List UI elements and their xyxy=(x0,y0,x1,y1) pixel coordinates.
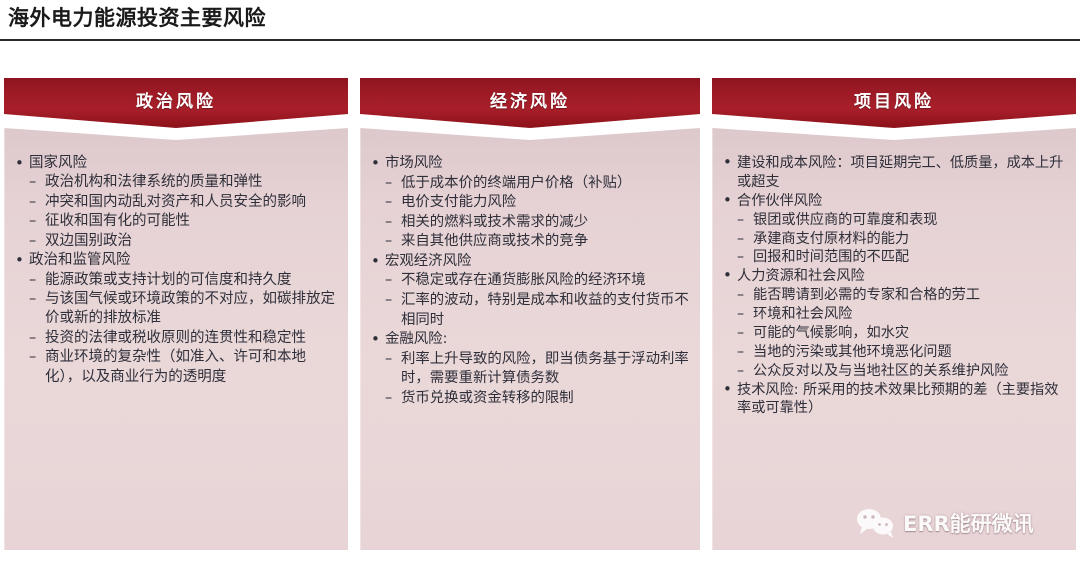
risk-list: 建设和成本风险：项目延期完工、低质量，成本上升或超支 合作伙伴风险 银团或供应商… xyxy=(720,154,1066,418)
risk-group: 人力资源和社会风险 能否聘请到必需的专家和合格的劳工 环境和社会风险 可能的气候… xyxy=(720,267,1066,380)
risk-list: 市场风险 低于成本价的终端用户价格（补贴） 电价支付能力风险 相关的燃料或技术需… xyxy=(368,154,690,409)
risk-group: 建设和成本风险：项目延期完工、低质量，成本上升或超支 xyxy=(720,154,1066,192)
risk-sub-item: 冲突和国内动乱对资产和人员安全的影响 xyxy=(29,193,338,212)
risk-group-label: 宏观经济风险 xyxy=(385,252,690,272)
risk-sub-item: 投资的法律或税收原则的连贯性和稳定性 xyxy=(29,329,338,348)
risk-sub-item: 双边国别政治 xyxy=(29,232,338,251)
risk-sub-item: 回报和时间范围的不匹配 xyxy=(737,248,1066,267)
page-title: 海外电力能源投资主要风险 xyxy=(8,6,266,31)
risk-sub-item: 利率上升导致的风险，即当债务基于浮动利率时，需要重新计算债务数 xyxy=(385,350,690,389)
risk-column-economic: 经济风险 市场风险 低于成本价的终端用户价格（补贴） 电价支付能力风险 相关的燃… xyxy=(360,78,700,558)
risk-sub-list: 低于成本价的终端用户价格（补贴） 电价支付能力风险 相关的燃料或技术需求的减少 … xyxy=(385,174,690,252)
risk-sub-item: 相关的燃料或技术需求的减少 xyxy=(385,213,690,233)
risk-sub-item: 环境和社会风险 xyxy=(737,305,1066,324)
risk-group-label: 合作伙伴风险 xyxy=(737,192,1066,211)
risk-sub-item: 电价支付能力风险 xyxy=(385,193,690,213)
risk-group: 金融风险: 利率上升导致的风险，即当债务基于浮动利率时，需要重新计算债务数 货币… xyxy=(368,330,690,408)
risk-sub-item: 货币兑换或资金转移的限制 xyxy=(385,389,690,409)
risk-sub-list: 银团或供应商的可靠度和表现 承建商支付原材料的能力 回报和时间范围的不匹配 xyxy=(737,211,1066,268)
risk-sub-item: 不稳定或存在通货膨胀风险的经济环境 xyxy=(385,271,690,291)
risk-group: 政治和监管风险 能源政策或支持计划的可信度和持久度 与该国气候或环境政策的不对应… xyxy=(12,251,338,387)
risk-group: 宏观经济风险 不稳定或存在通货膨胀风险的经济环境 汇率的波动，特别是成本和收益的… xyxy=(368,252,690,330)
risk-group: 技术风险: 所采用的技术效果比预期的差（主要指效率或可靠性） xyxy=(720,381,1066,419)
risk-group: 市场风险 低于成本价的终端用户价格（补贴） 电价支付能力风险 相关的燃料或技术需… xyxy=(368,154,690,252)
risk-column-political: 政治风险 国家风险 政治机构和法律系统的质量和弹性 冲突和国内动乱对资产和人员安… xyxy=(4,78,348,558)
risk-sub-item: 征收和国有化的可能性 xyxy=(29,212,338,231)
risk-sub-item: 政治机构和法律系统的质量和弹性 xyxy=(29,173,338,192)
column-header-label: 政治风险 xyxy=(136,87,216,112)
risk-sub-item: 与该国气候或环境政策的不对应，如碳排放定价或新的排放标准 xyxy=(29,290,338,329)
risk-sub-item: 能否聘请到必需的专家和合格的劳工 xyxy=(737,286,1066,305)
risk-column-project: 项目风险 建设和成本风险：项目延期完工、低质量，成本上升或超支 合作伙伴风险 银… xyxy=(712,78,1076,558)
column-header-label: 项目风险 xyxy=(854,87,934,112)
risk-group: 国家风险 政治机构和法律系统的质量和弹性 冲突和国内动乱对资产和人员安全的影响 … xyxy=(12,154,338,251)
risk-sub-list: 利率上升导致的风险，即当债务基于浮动利率时，需要重新计算债务数 货币兑换或资金转… xyxy=(385,350,690,409)
risk-sub-list: 能源政策或支持计划的可信度和持久度 与该国气候或环境政策的不对应，如碳排放定价或… xyxy=(29,271,338,388)
risk-sub-list: 政治机构和法律系统的质量和弹性 冲突和国内动乱对资产和人员安全的影响 征收和国有… xyxy=(29,173,338,251)
column-panel-political: 国家风险 政治机构和法律系统的质量和弹性 冲突和国内动乱对资产和人员安全的影响 … xyxy=(4,128,348,550)
risk-sub-item: 银团或供应商的可靠度和表现 xyxy=(737,211,1066,230)
risk-sub-item: 当地的污染或其他环境恶化问题 xyxy=(737,343,1066,362)
risk-sub-list: 能否聘请到必需的专家和合格的劳工 环境和社会风险 可能的气候影响，如水灾 当地的… xyxy=(737,286,1066,380)
risk-sub-list: 不稳定或存在通货膨胀风险的经济环境 汇率的波动，特别是成本和收益的支付货币不相同… xyxy=(385,271,690,330)
risk-group-label: 建设和成本风险：项目延期完工、低质量，成本上升或超支 xyxy=(737,154,1066,192)
column-header-label: 经济风险 xyxy=(490,87,570,112)
risk-group-label: 市场风险 xyxy=(385,154,690,174)
column-panel-project: 建设和成本风险：项目延期完工、低质量，成本上升或超支 合作伙伴风险 银团或供应商… xyxy=(712,128,1076,550)
risk-columns: 政治风险 国家风险 政治机构和法律系统的质量和弹性 冲突和国内动乱对资产和人员安… xyxy=(0,78,1080,558)
risk-group-label: 国家风险 xyxy=(29,154,338,173)
risk-sub-item: 低于成本价的终端用户价格（补贴） xyxy=(385,174,690,194)
column-panel-economic: 市场风险 低于成本价的终端用户价格（补贴） 电价支付能力风险 相关的燃料或技术需… xyxy=(360,128,700,550)
risk-sub-item: 能源政策或支持计划的可信度和持久度 xyxy=(29,271,338,290)
risk-group-label: 政治和监管风险 xyxy=(29,251,338,270)
risk-group-label: 金融风险: xyxy=(385,330,690,350)
risk-sub-item: 商业环境的复杂性（如准入、许可和本地化），以及商业行为的透明度 xyxy=(29,348,338,387)
risk-sub-item: 可能的气候影响，如水灾 xyxy=(737,324,1066,343)
risk-group-label: 技术风险: 所采用的技术效果比预期的差（主要指效率或可靠性） xyxy=(737,381,1066,419)
risk-sub-item: 承建商支付原材料的能力 xyxy=(737,230,1066,249)
risk-group-label: 人力资源和社会风险 xyxy=(737,267,1066,286)
risk-group: 合作伙伴风险 银团或供应商的可靠度和表现 承建商支付原材料的能力 回报和时间范围… xyxy=(720,192,1066,268)
risk-sub-item: 来自其他供应商或技术的竞争 xyxy=(385,232,690,252)
column-banner-political: 政治风险 xyxy=(4,78,348,128)
column-banner-project: 项目风险 xyxy=(712,78,1076,128)
risk-sub-item: 汇率的波动，特别是成本和收益的支付货币不相同时 xyxy=(385,291,690,330)
risk-sub-item: 公众反对以及与当地社区的关系维护风险 xyxy=(737,362,1066,381)
title-divider xyxy=(0,39,1080,41)
risk-list: 国家风险 政治机构和法律系统的质量和弹性 冲突和国内动乱对资产和人员安全的影响 … xyxy=(12,154,338,387)
column-banner-economic: 经济风险 xyxy=(360,78,700,128)
